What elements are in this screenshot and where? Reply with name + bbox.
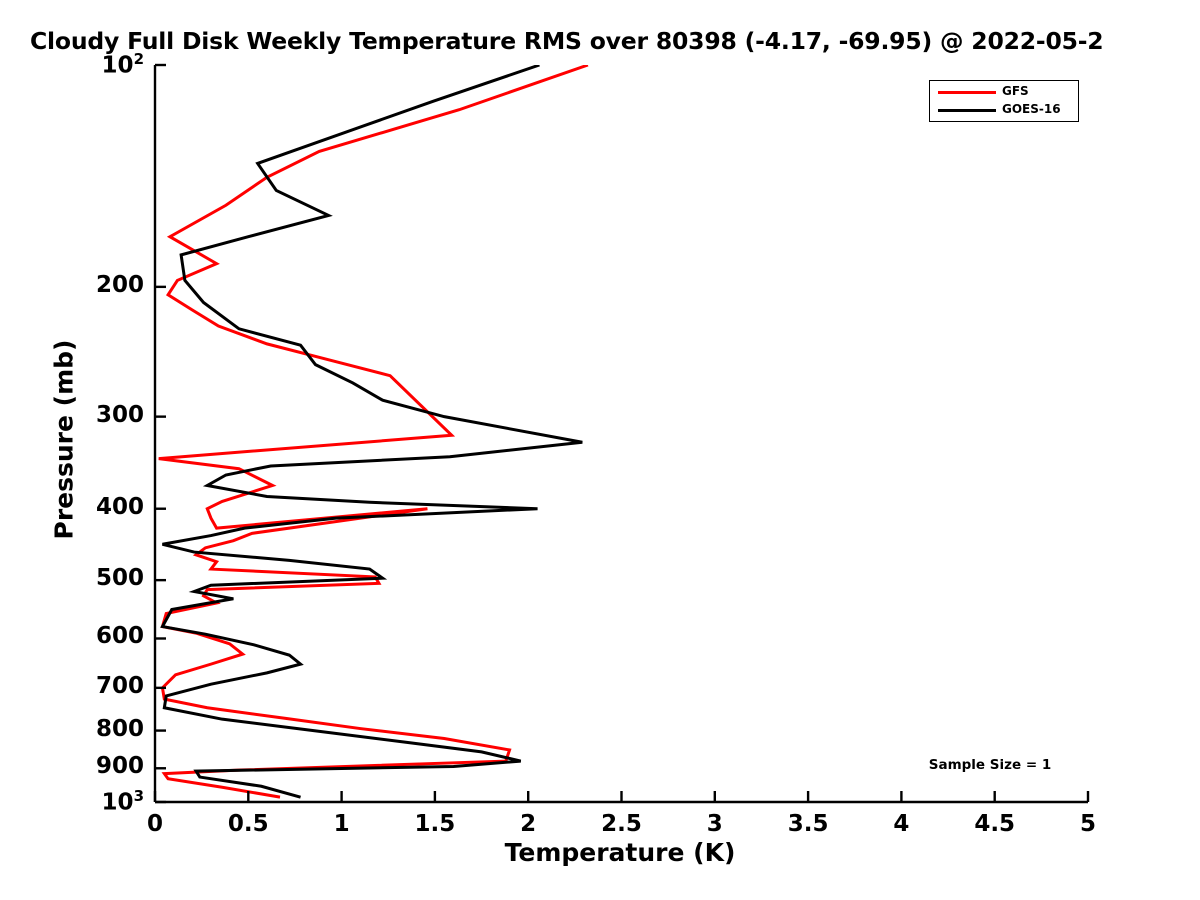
legend: GFS GOES-16: [929, 80, 1079, 122]
x-tick-label: 1.5: [395, 811, 475, 837]
x-tick-label: 1: [302, 811, 382, 837]
y-tick-label: 400: [24, 494, 144, 520]
chart-figure: Cloudy Full Disk Weekly Temperature RMS …: [0, 0, 1200, 900]
sample-size-annotation: Sample Size = 1: [880, 757, 1100, 773]
page-title: Cloudy Full Disk Weekly Temperature RMS …: [30, 27, 1200, 55]
legend-swatch-goes16: [938, 109, 996, 112]
x-tick-label: 5: [1048, 811, 1128, 837]
y-tick-label: 900: [24, 753, 144, 779]
legend-swatch-gfs: [938, 91, 996, 94]
legend-label-goes16: GOES-16: [1002, 102, 1061, 116]
x-tick-label: 0.5: [208, 811, 288, 837]
y-tick-label: 102: [24, 50, 144, 79]
y-tick-label: 103: [24, 787, 144, 816]
x-tick-label: 4.5: [955, 811, 1035, 837]
y-tick-label: 500: [24, 565, 144, 591]
x-tick-label: 3: [675, 811, 755, 837]
legend-entry-gfs: GFS: [930, 83, 1078, 101]
x-tick-label: 2.5: [582, 811, 662, 837]
y-tick-label: 300: [24, 402, 144, 428]
series-line-goes-16: [162, 65, 582, 797]
y-tick-label: 800: [24, 716, 144, 742]
x-tick-label: 3.5: [768, 811, 848, 837]
plot-area: [155, 65, 1088, 802]
x-axis-label: Temperature (K): [0, 838, 1200, 867]
data-series-group: [159, 65, 588, 797]
y-tick-label: 700: [24, 673, 144, 699]
x-tick-label: 4: [861, 811, 941, 837]
y-tick-label: 200: [24, 272, 144, 298]
y-axis-label: Pressure (mb): [50, 190, 79, 690]
plot-svg: [155, 65, 1088, 802]
y-tick-label: 600: [24, 623, 144, 649]
legend-entry-goes16: GOES-16: [930, 101, 1078, 119]
legend-label-gfs: GFS: [1002, 84, 1029, 98]
x-tick-label: 2: [488, 811, 568, 837]
